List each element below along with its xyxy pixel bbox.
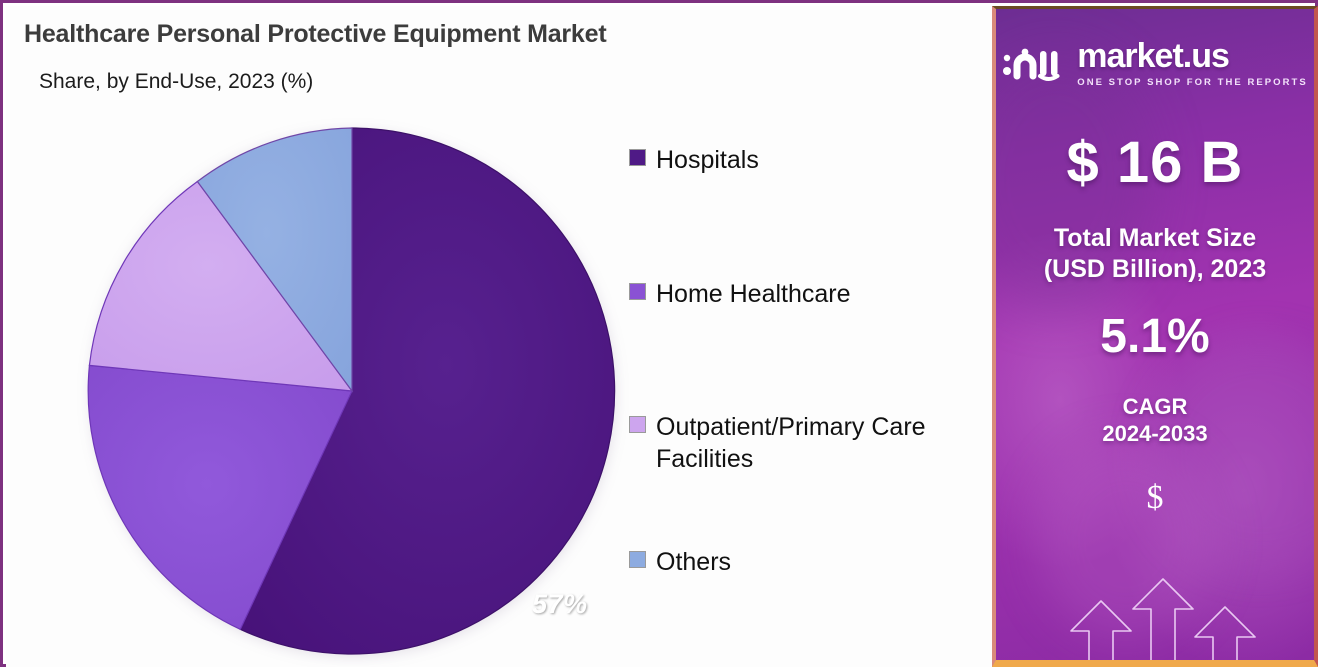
legend-item-home-healthcare[interactable]: Home Healthcare	[629, 278, 851, 310]
legend-item-hospitals[interactable]: Hospitals	[629, 144, 759, 176]
cagr-caption: CAGR 2024-2033	[996, 394, 1314, 448]
legend-swatch-home-healthcare	[629, 283, 646, 300]
pie-data-label-hospitals: 57%	[532, 589, 588, 620]
brand-logo[interactable]: market.us ONE STOP SHOP FOR THE REPORTS	[996, 39, 1314, 88]
brand-tagline: ONE STOP SHOP FOR THE REPORTS	[1077, 77, 1307, 88]
dollar-sign-icon: $	[996, 479, 1314, 517]
legend-item-outpatient[interactable]: Outpatient/Primary Care Facilities	[629, 411, 976, 475]
market-us-logo-icon	[1002, 43, 1068, 85]
promo-panel: market.us ONE STOP SHOP FOR THE REPORTS …	[992, 6, 1318, 667]
page-title: Healthcare Personal Protective Equipment…	[24, 20, 606, 49]
market-size-value: $ 16 B	[996, 129, 1314, 196]
cagr-value: 5.1%	[996, 309, 1314, 364]
legend-swatch-outpatient	[629, 416, 646, 433]
market-size-caption-line-2: (USD Billion), 2023	[996, 254, 1314, 285]
brand-name: market.us	[1077, 39, 1229, 73]
legend-label-outpatient: Outpatient/Primary Care Facilities	[656, 411, 976, 475]
pie-chart: 57%	[85, 124, 619, 658]
legend-label-others: Others	[656, 546, 731, 578]
legend-label-home-healthcare: Home Healthcare	[656, 278, 851, 310]
market-size-caption: Total Market Size (USD Billion), 2023	[996, 223, 1314, 284]
growth-arrows-icon	[1056, 569, 1271, 667]
cagr-caption-line-2: 2024-2033	[996, 421, 1314, 448]
pie-chart-svg	[85, 124, 619, 658]
chart-card: Healthcare Personal Protective Equipment…	[6, 6, 992, 667]
legend-swatch-others	[629, 551, 646, 568]
legend-label-hospitals: Hospitals	[656, 144, 759, 176]
legend-item-others[interactable]: Others	[629, 546, 731, 578]
chart-subtitle: Share, by End-Use, 2023 (%)	[39, 70, 313, 94]
market-size-caption-line-1: Total Market Size	[996, 223, 1314, 254]
infographic-frame: Healthcare Personal Protective Equipment…	[0, 0, 1318, 667]
cagr-caption-line-1: CAGR	[996, 394, 1314, 421]
legend-swatch-hospitals	[629, 149, 646, 166]
